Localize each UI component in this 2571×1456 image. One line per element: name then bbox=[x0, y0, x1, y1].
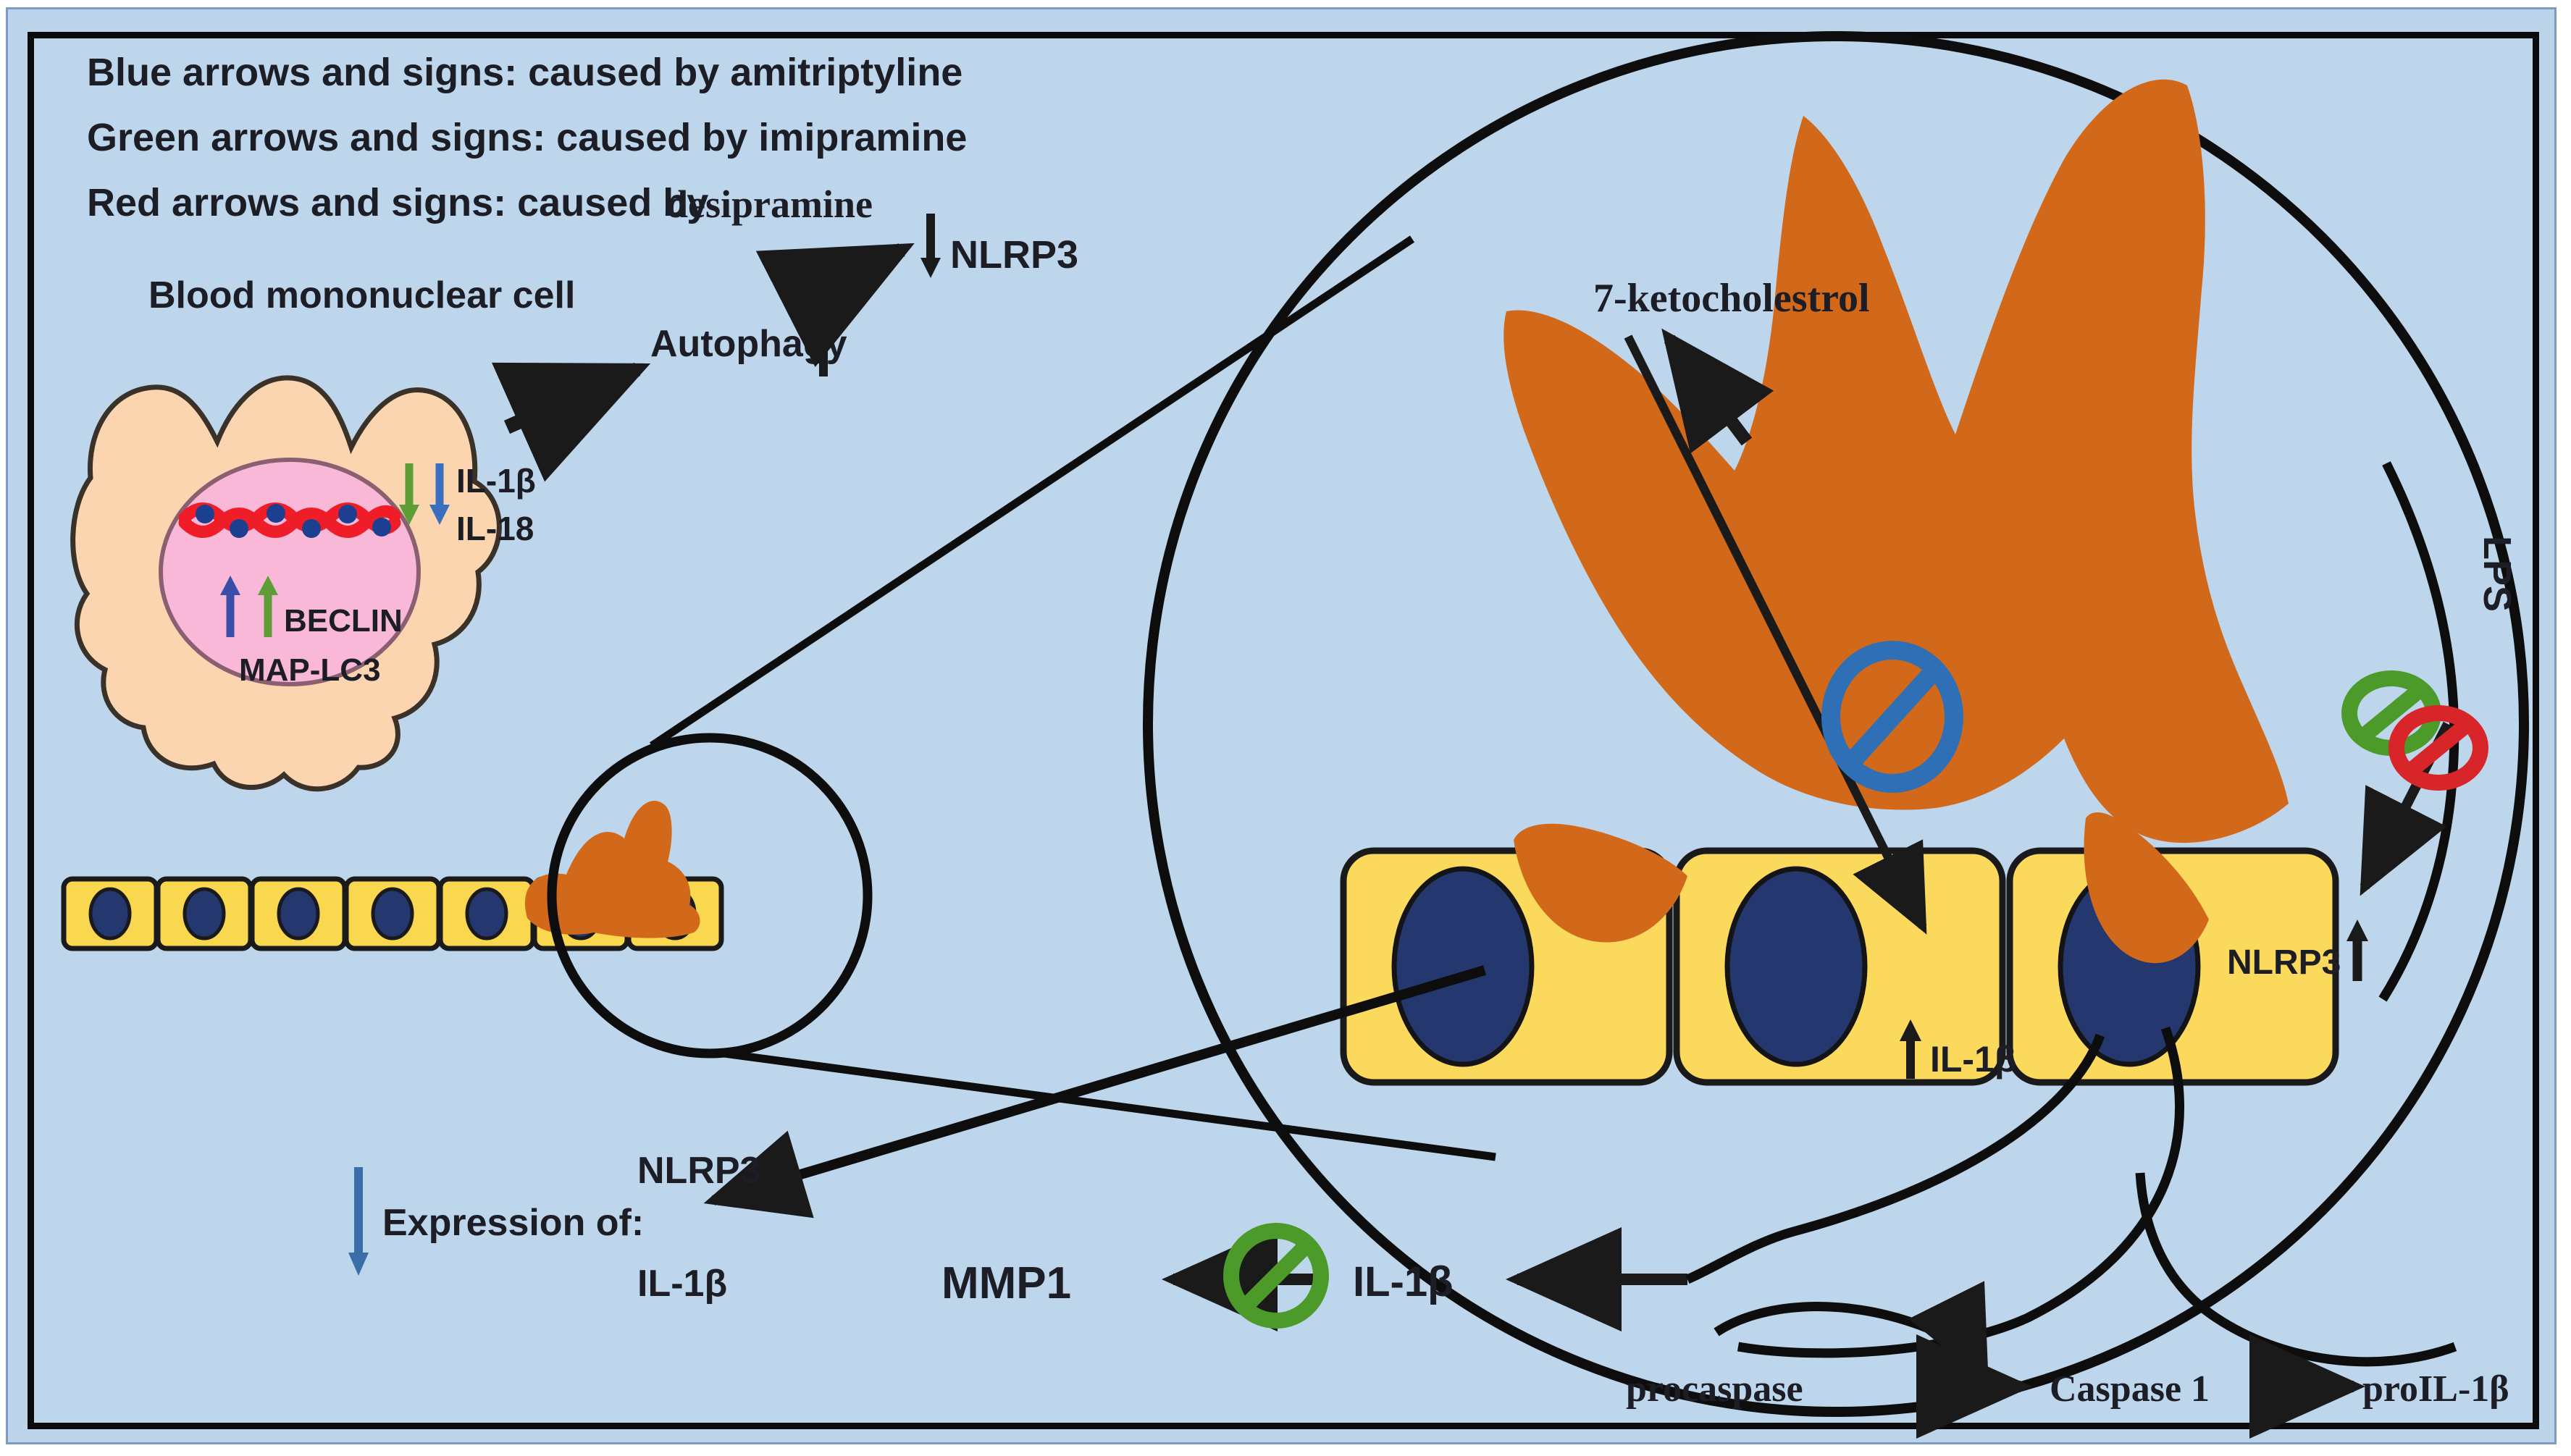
arrow-cell-to-autophagy bbox=[507, 369, 637, 427]
monocyte-large-shape bbox=[1503, 80, 2289, 843]
il18-nucleus-label: IL-18 bbox=[456, 510, 534, 547]
mmp1-pathway: MMP1 IL-1β bbox=[941, 1231, 1687, 1321]
figure-canvas: Blue arrows and signs: caused by amitrip… bbox=[0, 0, 2571, 1456]
map-lc3-label: MAP-LC3 bbox=[239, 652, 381, 688]
endothelium-small-layer bbox=[64, 801, 721, 948]
legend-line-3-drug: desipramine bbox=[666, 182, 873, 226]
proil1b-label: proIL-1β bbox=[2362, 1368, 2509, 1410]
legend-line-1: Blue arrows and signs: caused by amitrip… bbox=[87, 51, 962, 94]
procaspase-label: procaspase bbox=[1626, 1368, 1803, 1410]
monocyte-nucleus bbox=[161, 460, 419, 684]
curve-right-lower bbox=[2140, 1173, 2455, 1362]
endothelial-cell-small bbox=[440, 879, 533, 948]
il1b-nucleus-label: IL-1β bbox=[456, 462, 536, 500]
magnifier-connector-top bbox=[652, 239, 1412, 746]
expression-item-nlrp3: NLRP3 bbox=[637, 1150, 760, 1192]
blood-mononuclear-cell: BECLIN MAP-LC3 bbox=[73, 378, 500, 789]
expression-block: Expression of: NLRP3 IL-1β bbox=[348, 1150, 760, 1305]
ketocholestrol-label: 7-ketocholestrol bbox=[1593, 276, 1870, 321]
lps-label: LPS bbox=[2475, 536, 2519, 612]
legend-line-3: Red arrows and signs: caused by bbox=[87, 181, 708, 224]
beclin-label: BECLIN bbox=[284, 603, 403, 639]
nlrp3-endothelial-label: NLRP3 bbox=[2227, 943, 2341, 982]
expression-item-il1b: IL-1β bbox=[637, 1263, 727, 1305]
caspase-pathway: procaspase Caspase 1 proIL-1β bbox=[1626, 1368, 2509, 1410]
nlrp3-top-label: NLRP3 bbox=[950, 233, 1078, 277]
il1b-mmp-label: IL-1β bbox=[1353, 1258, 1454, 1305]
endothelial-cell-small bbox=[346, 879, 439, 948]
endothelial-cell-small bbox=[252, 879, 345, 948]
expression-down-arrow-blue bbox=[348, 1167, 369, 1276]
blood-mononuclear-cell-label: Blood mononuclear cell bbox=[148, 274, 575, 316]
endothelial-cell-small bbox=[158, 879, 251, 948]
il1b-endothelial-label: IL-1β bbox=[1930, 1039, 2016, 1080]
arrow-autophagy-to-nlrp3 bbox=[795, 250, 902, 304]
legend-line-2: Green arrows and signs: caused by imipra… bbox=[87, 116, 967, 159]
caspase1-label: Caspase 1 bbox=[2050, 1368, 2210, 1410]
endothelial-cell-small bbox=[64, 879, 156, 948]
curve-to-procaspase-arrow bbox=[1716, 1307, 1984, 1376]
autophagy-pathway: Autophagy NLRP3 bbox=[507, 214, 1078, 427]
expression-of-label: Expression of: bbox=[382, 1202, 644, 1244]
diagram-svg: Blue arrows and signs: caused by amitrip… bbox=[0, 0, 2571, 1456]
nlrp3-top-down-arrow bbox=[920, 214, 941, 278]
mmp1-label: MMP1 bbox=[941, 1258, 1071, 1308]
legend: Blue arrows and signs: caused by amitrip… bbox=[87, 51, 967, 226]
